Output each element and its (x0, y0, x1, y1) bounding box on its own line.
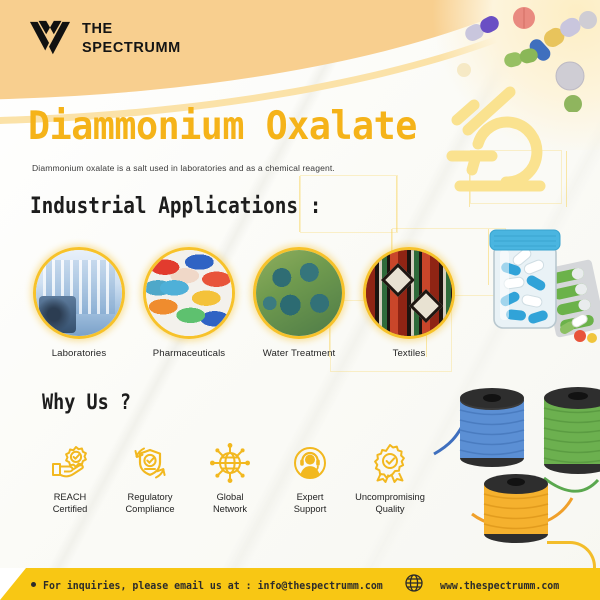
headset-agent-icon (270, 440, 350, 486)
feature-label: Global Network (190, 491, 270, 516)
award-ribbon-check-icon (350, 440, 430, 486)
application-image-laboratories (33, 247, 125, 339)
spool-orange (484, 474, 548, 543)
feature-label-line1: REACH (30, 491, 110, 503)
feature-item-uncompromising-quality[interactable]: Uncompromising Quality (350, 440, 430, 516)
footer: For inquiries, please email us at : info… (0, 566, 600, 600)
application-image-textiles (363, 247, 455, 339)
application-label: Textiles (354, 348, 464, 359)
feature-label-line1: Expert (270, 491, 350, 503)
why-us-heading: Why Us ? (42, 390, 131, 414)
globe-network-icon (190, 440, 270, 486)
application-image-water-treatment (253, 247, 345, 339)
page-subtitle: Diammonium oxalate is a salt used in lab… (32, 163, 335, 173)
feature-item-expert-support[interactable]: Expert Support (270, 440, 350, 516)
feature-item-global-network[interactable]: Global Network (190, 440, 270, 516)
application-label: Pharmaceuticals (134, 348, 244, 359)
globe-icon (404, 573, 424, 593)
application-item-pharmaceuticals[interactable]: Pharmaceuticals (134, 247, 244, 359)
infographic-poster: THE SPECTRUMM Diammonium Oxalate Diammon… (0, 0, 600, 600)
application-image-pharmaceuticals (143, 247, 235, 339)
brand-name: THE SPECTRUMM (82, 20, 181, 57)
features-list: REACH Certified (30, 440, 470, 516)
feature-label: Expert Support (270, 491, 350, 516)
application-item-textiles[interactable]: Textiles (354, 247, 464, 359)
feature-label-line2: Network (190, 503, 270, 515)
shield-check-refresh-icon (110, 440, 190, 486)
footer-website-link[interactable]: www.thespectrumm.com (440, 579, 559, 592)
feature-label-line2: Quality (350, 503, 430, 515)
feature-item-reach-certified[interactable]: REACH Certified (30, 440, 110, 516)
page-title: Diammonium Oxalate (28, 104, 417, 149)
brand-line-2: SPECTRUMM (82, 39, 181, 58)
applications-list: Laboratories Pharmaceuticals Water Treat… (24, 247, 464, 359)
application-item-laboratories[interactable]: Laboratories (24, 247, 134, 359)
feature-label-line2: Certified (30, 503, 110, 515)
footer-email-text[interactable]: For inquiries, please email us at : info… (43, 579, 383, 592)
hand-holding-certificate-icon (30, 440, 110, 486)
feature-label-line2: Compliance (110, 503, 190, 515)
spool-green (544, 387, 600, 474)
applications-heading: Industrial Applications : (30, 194, 321, 219)
feature-item-regulatory-compliance[interactable]: Regulatory Compliance (110, 440, 190, 516)
brand-logo[interactable]: THE SPECTRUMM (28, 18, 181, 60)
feature-label-line1: Uncompromising (350, 491, 430, 503)
feature-label-line2: Support (270, 503, 350, 515)
footer-bullet (31, 582, 36, 587)
application-item-water-treatment[interactable]: Water Treatment (244, 247, 354, 359)
feature-label: REACH Certified (30, 491, 110, 516)
feature-label: Uncompromising Quality (350, 491, 430, 516)
pill-jar-image (476, 218, 600, 344)
spectrumm-w-mark-icon (28, 18, 72, 60)
feature-label-line1: Global (190, 491, 270, 503)
application-label: Water Treatment (244, 348, 354, 359)
application-label: Laboratories (24, 348, 134, 359)
feature-label-line1: Regulatory (110, 491, 190, 503)
brand-line-1: THE (82, 20, 181, 39)
scattered-pills-image (440, 0, 600, 112)
feature-label: Regulatory Compliance (110, 491, 190, 516)
